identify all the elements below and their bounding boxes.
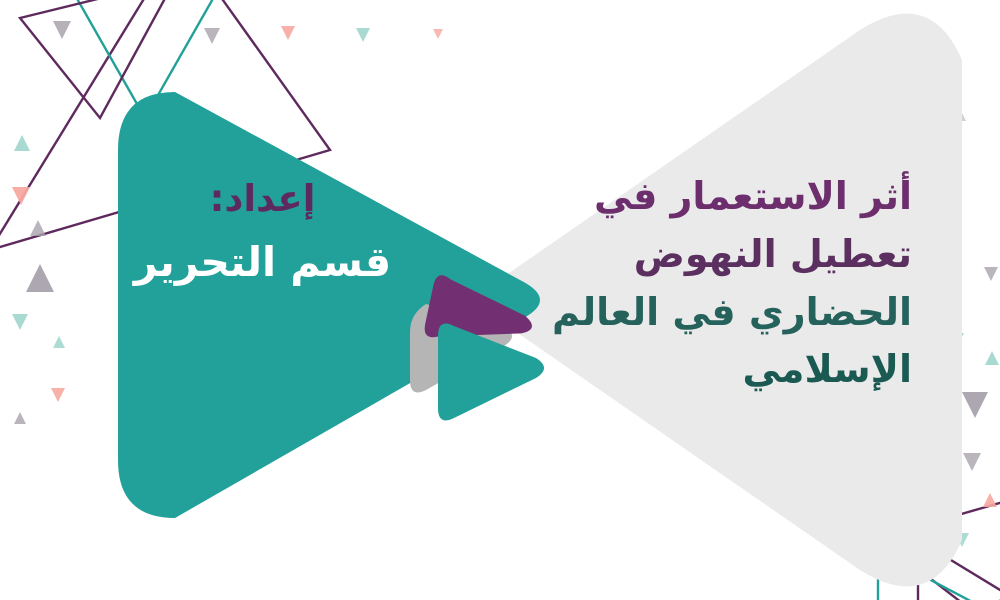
title-block: أثر الاستعمار في تعطيل النهوض الحضاري في… <box>582 168 912 399</box>
title-line-2: تعطيل النهوض <box>582 226 912 284</box>
title-line-4: الإسلامي <box>582 341 912 399</box>
title-line-3: الحضاري في العالم <box>582 284 912 342</box>
title-line-1: أثر الاستعمار في <box>582 168 912 226</box>
credit-block: إعداد: قسم التحرير <box>120 178 405 286</box>
three-play-triangles-logo <box>408 268 558 428</box>
credit-value: قسم التحرير <box>120 239 405 286</box>
slide-canvas: إعداد: قسم التحرير أثر الاستعمار في تعطي… <box>0 0 1000 600</box>
credit-label: إعداد: <box>120 178 405 221</box>
